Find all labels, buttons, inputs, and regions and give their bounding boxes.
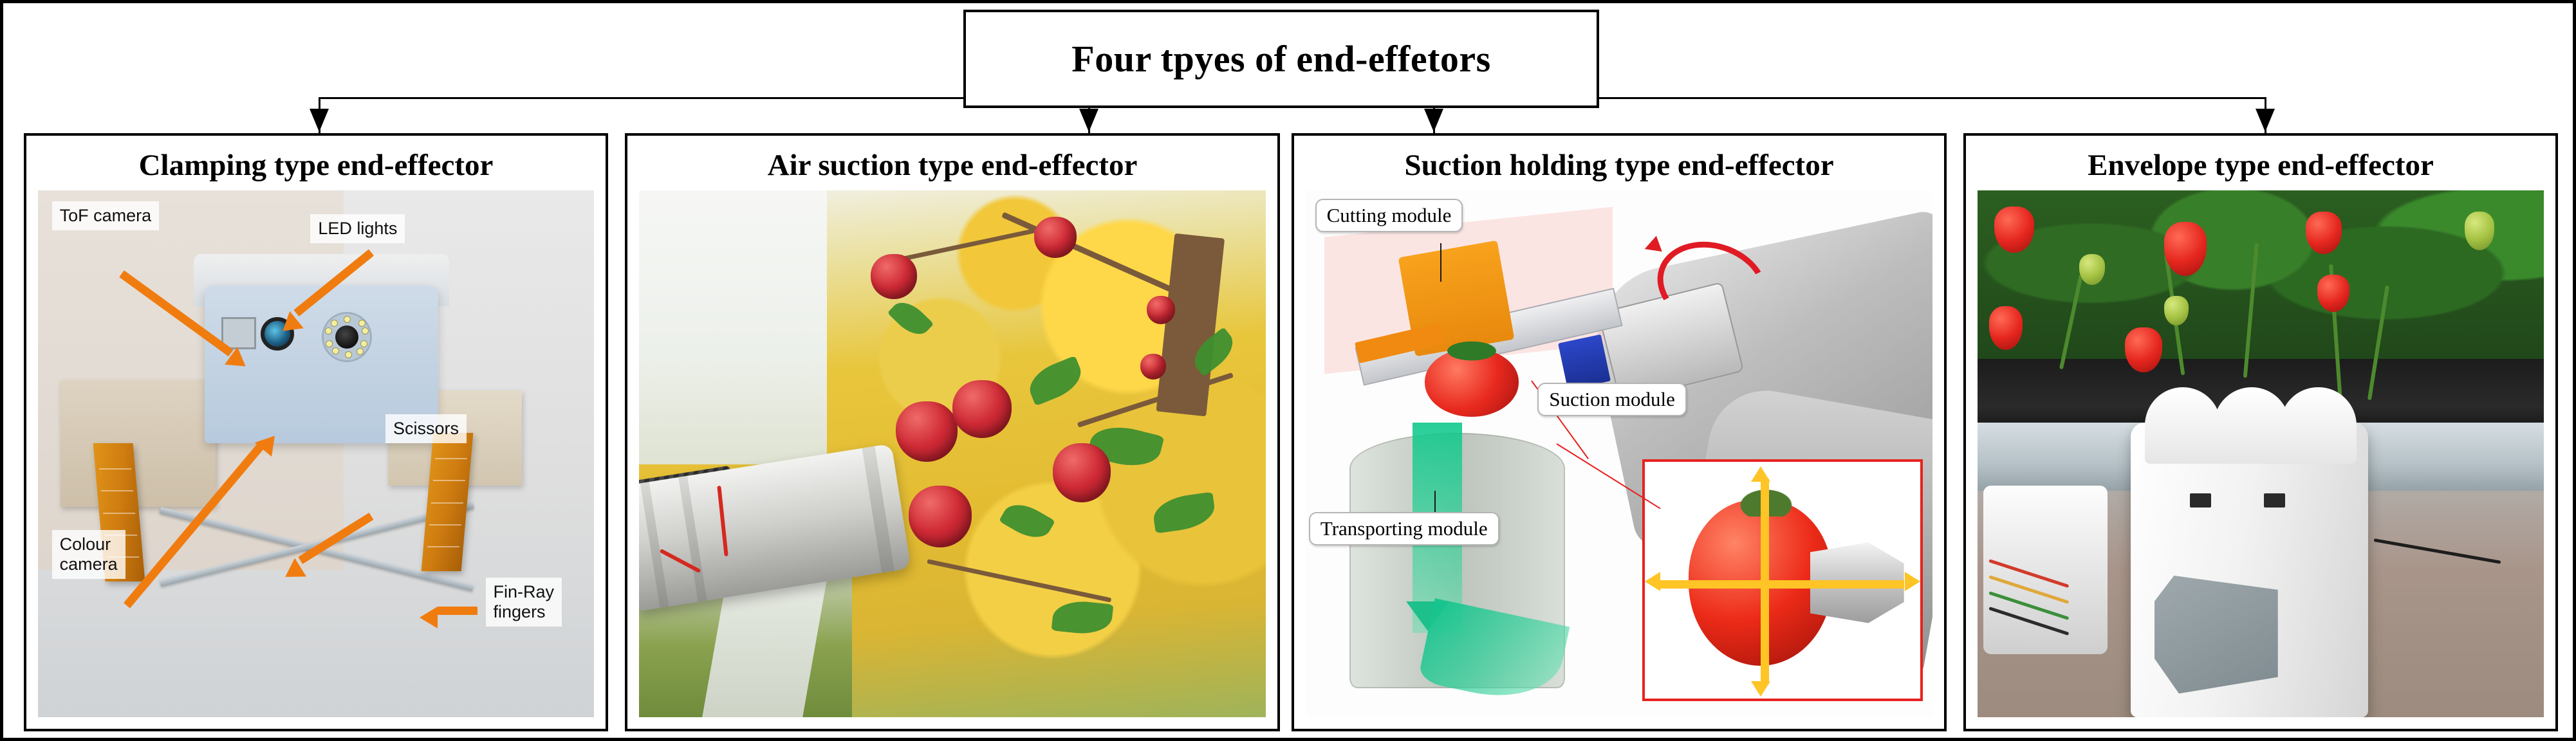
- gripper-slot-right: [2264, 493, 2285, 508]
- panel-air-suction: Air suction type end-effector: [625, 133, 1280, 731]
- cable-bundle: [2374, 538, 2501, 564]
- apple-fruit: [896, 401, 958, 462]
- panel-title-clamping: Clamping type end-effector: [139, 150, 494, 181]
- tomato-calyx: [1431, 335, 1513, 361]
- suction-holding-diagram: Cutting module Suction module Transporti…: [1306, 190, 1932, 717]
- connector-left-horizontal: [319, 97, 965, 99]
- apple-fruit: [1147, 296, 1175, 324]
- figure-root: Four tpyes of end-effetors Clamping type…: [0, 0, 2576, 741]
- orchard-sky: [639, 190, 827, 464]
- arrow-head-panel-3: [1424, 109, 1443, 132]
- apple-fruit: [1034, 217, 1077, 258]
- orchard-branch: [889, 228, 1037, 263]
- arrow-head-panel-1: [310, 109, 329, 132]
- force-arrow-right: [1772, 580, 1904, 589]
- label-transporting-module: Transporting module: [1309, 512, 1499, 545]
- panel-image-envelope: [1978, 190, 2544, 717]
- orchard-branch: [927, 559, 1111, 603]
- orchard-photo-scene: [639, 190, 1266, 717]
- panel-image-air-suction: [639, 190, 1266, 717]
- strawberry-photo-scene: [1978, 190, 2544, 717]
- strawberry-fruit-unripe: [2465, 212, 2494, 250]
- leader-cutting-module: [1440, 243, 1441, 282]
- figure-title: Four tpyes of end-effetors: [1071, 37, 1490, 80]
- connector-right-horizontal: [1593, 97, 2265, 99]
- rotation-arrow-head-icon: [1642, 236, 1662, 257]
- apple-fruit: [1053, 443, 1111, 502]
- force-arrow-left: [1656, 580, 1772, 589]
- orchard-leaf: [1051, 598, 1113, 636]
- orchard-branch: [1001, 212, 1176, 293]
- force-arrow-up: [1761, 479, 1769, 583]
- air-suction-tube: [639, 444, 911, 612]
- orchard-branch: [1077, 372, 1234, 427]
- suction-detail-inset: [1642, 459, 1923, 701]
- panel-title-envelope: Envelope type end-effector: [2088, 150, 2434, 181]
- orchard-leaf: [999, 496, 1055, 545]
- led-ring-icon: [322, 312, 372, 362]
- panel-image-clamping: ToF camera LED lights Scissors Colour ca…: [38, 190, 594, 717]
- arrow-head-panel-4: [2256, 109, 2275, 132]
- label-led-lights: LED lights: [310, 214, 405, 243]
- panel-title-air-suction: Air suction type end-effector: [768, 150, 1138, 181]
- figure-title-box: Four tpyes of end-effetors: [963, 10, 1599, 108]
- gripper-jaw-right: [2280, 387, 2356, 464]
- label-tof-camera: ToF camera: [52, 201, 160, 230]
- label-suction-module: Suction module: [1537, 383, 1686, 416]
- gripper-motor-housing: [1983, 486, 2108, 654]
- panel-envelope: Envelope type end-effector: [1963, 133, 2558, 731]
- orchard-leaf: [1024, 355, 1087, 406]
- force-arrow-left-head: [1645, 572, 1660, 591]
- apple-fruit: [952, 380, 1012, 438]
- orchard-leaf: [887, 296, 933, 342]
- panel-suction-holding: Suction holding type end-effector: [1292, 133, 1947, 731]
- force-arrow-right-head: [1905, 572, 1920, 591]
- label-colour-camera: Colour camera: [52, 530, 125, 579]
- clamping-left-block: [60, 380, 216, 506]
- apple-fruit: [871, 254, 917, 299]
- apple-fruit: [909, 486, 972, 547]
- force-arrow-down-head: [1751, 681, 1770, 697]
- gripper-side-plate: [2154, 576, 2278, 693]
- label-fin-ray-fingers: Fin-Ray fingers: [486, 578, 562, 627]
- gripper-jaw-mid: [2214, 387, 2290, 464]
- force-arrow-down: [1761, 580, 1769, 684]
- label-cutting-module: Cutting module: [1315, 199, 1463, 232]
- panel-title-suction-holding: Suction holding type end-effector: [1404, 150, 1833, 181]
- orchard-leaf: [1151, 492, 1217, 534]
- panel-clamping: Clamping type end-effector: [24, 133, 608, 731]
- envelope-gripper-body: [2131, 423, 2369, 717]
- panel-image-suction-holding: Cutting module Suction module Transporti…: [1306, 190, 1932, 717]
- clamping-photo-scene: ToF camera LED lights Scissors Colour ca…: [38, 190, 594, 717]
- arrow-head-panel-2: [1079, 109, 1098, 132]
- gripper-slot-left: [2190, 493, 2211, 508]
- gripper-jaw-left: [2145, 387, 2221, 464]
- label-scissors: Scissors: [385, 414, 467, 443]
- force-arrow-up-head: [1751, 466, 1770, 482]
